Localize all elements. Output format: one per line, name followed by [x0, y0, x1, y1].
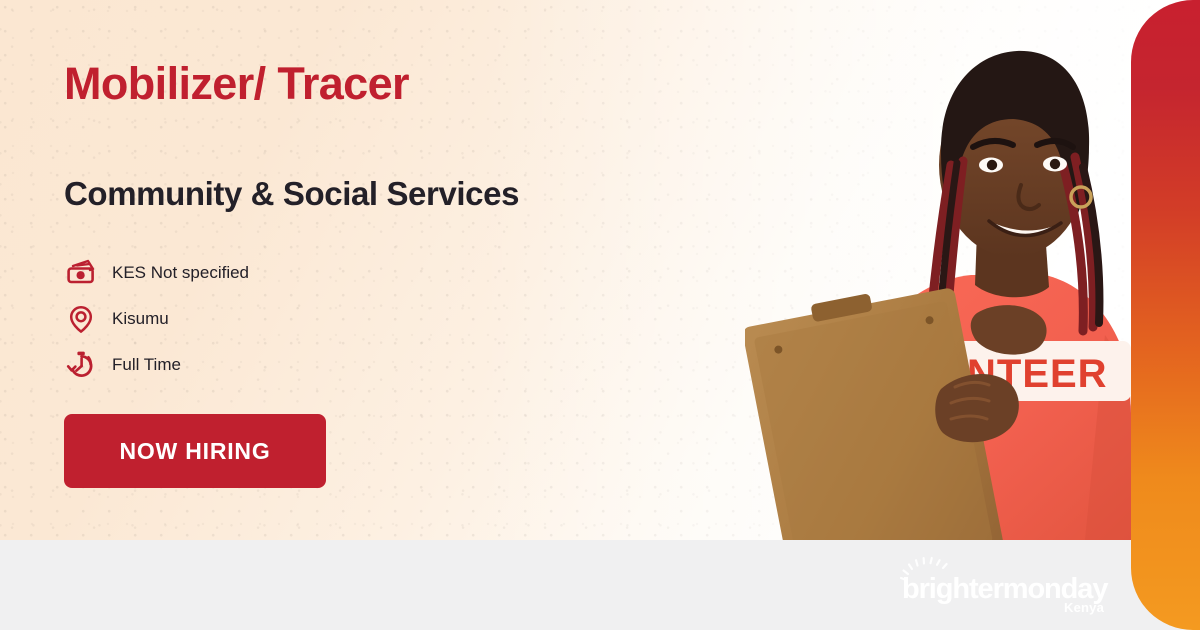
- stopwatch-icon: [64, 348, 98, 382]
- job-category: Community & Social Services: [64, 175, 519, 213]
- meta-row-location: Kisumu: [64, 296, 249, 342]
- meta-label-salary: KES Not specified: [112, 263, 249, 283]
- job-meta-list: KES Not specified Kisumu: [64, 250, 249, 388]
- meta-label-type: Full Time: [112, 355, 181, 375]
- meta-row-type: Full Time: [64, 342, 249, 388]
- location-pin-icon: [64, 302, 98, 336]
- cash-icon: [64, 256, 98, 290]
- brightermonday-logo: brightermonday Kenya: [898, 554, 1128, 616]
- page-title: Mobilizer/ Tracer: [64, 58, 409, 110]
- logo-country: Kenya: [1064, 600, 1105, 615]
- job-banner: NTEER: [0, 0, 1200, 630]
- meta-label-location: Kisumu: [112, 309, 169, 329]
- meta-row-salary: KES Not specified: [64, 250, 249, 296]
- candidate-photo: NTEER: [745, 35, 1145, 540]
- now-hiring-button[interactable]: NOW HIRING: [64, 414, 326, 488]
- accent-gradient-panel: [1131, 0, 1200, 630]
